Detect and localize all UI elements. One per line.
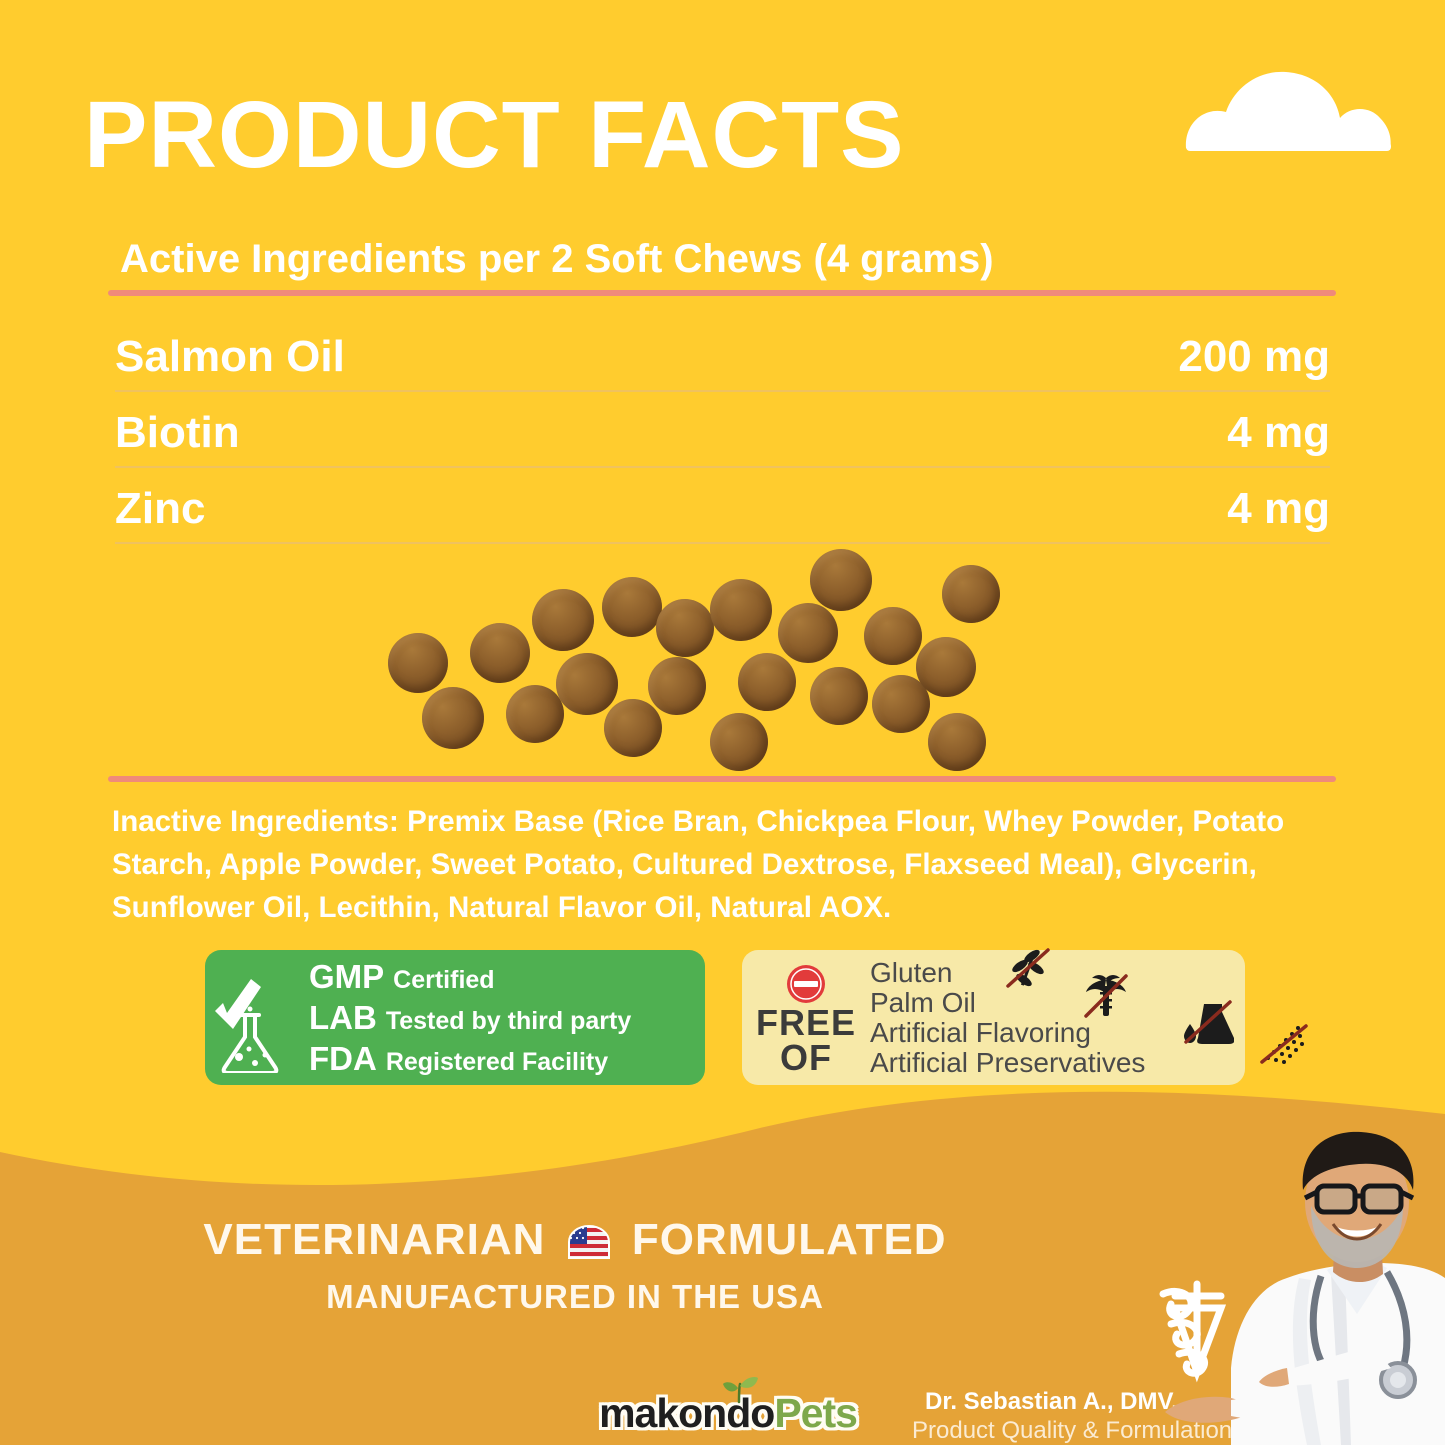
palm-tree-crossed-icon bbox=[1082, 972, 1130, 1020]
certification-list: GMP Certified LAB Tested by third party … bbox=[309, 958, 631, 1078]
table-row: Biotin 4 mg bbox=[115, 398, 1330, 468]
free-of-list: Gluten Palm Oil Artificial Flavoring Art… bbox=[870, 950, 1245, 1085]
chew-piece bbox=[776, 601, 840, 665]
divider-bottom bbox=[108, 776, 1336, 782]
ingredient-name: Biotin bbox=[115, 408, 240, 458]
certification-badge: GMP Certified LAB Tested by third party … bbox=[205, 950, 705, 1085]
wheat-crossed-icon bbox=[1002, 948, 1054, 990]
chew-piece bbox=[923, 708, 992, 777]
leaf-sprout-icon bbox=[718, 1374, 760, 1404]
row-separator bbox=[115, 466, 1330, 468]
ingredient-amount: 200 mg bbox=[1178, 332, 1330, 382]
chew-piece bbox=[705, 708, 774, 777]
logo-pets: Pets bbox=[774, 1390, 857, 1436]
chew-piece bbox=[418, 683, 488, 753]
brand-logo[interactable]: makondoPets bbox=[568, 1382, 888, 1438]
free-word-line2: OF bbox=[780, 1041, 832, 1076]
no-entry-icon bbox=[786, 964, 826, 1004]
active-ingredients-heading: Active Ingredients per 2 Soft Chews (4 g… bbox=[120, 237, 994, 282]
chew-piece bbox=[803, 660, 875, 732]
ingredient-amount: 4 mg bbox=[1227, 484, 1330, 534]
free-word-line1: FREE bbox=[756, 1006, 856, 1041]
cert-key: GMP bbox=[309, 958, 384, 996]
product-facts-label: PRODUCT FACTS Active Ingredients per 2 S… bbox=[0, 0, 1445, 1445]
usa-flag-icon bbox=[567, 1224, 611, 1260]
cert-value: Tested by third party bbox=[386, 1007, 631, 1036]
inactive-ingredients-text: Inactive Ingredients: Premix Base (Rice … bbox=[112, 800, 1342, 929]
list-item: LAB Tested by third party bbox=[309, 999, 631, 1037]
table-row: Zinc 4 mg bbox=[115, 474, 1330, 544]
ingredient-name: Zinc bbox=[115, 484, 205, 534]
chew-piece bbox=[529, 586, 597, 654]
divider-top bbox=[108, 290, 1336, 296]
cert-value: Certified bbox=[393, 966, 494, 995]
veterinarian-formulated-line: VETERINARIAN FORMULATED bbox=[0, 1215, 1150, 1265]
soft-chews-image bbox=[380, 545, 1060, 770]
cert-value: Registered Facility bbox=[386, 1048, 608, 1077]
row-separator bbox=[115, 542, 1330, 544]
veterinarian-photo bbox=[1135, 1128, 1445, 1445]
vet-text-start: VETERINARIAN bbox=[203, 1215, 545, 1264]
ingredient-amount: 4 mg bbox=[1227, 408, 1330, 458]
list-item: Gluten bbox=[870, 958, 1245, 988]
chew-piece bbox=[708, 577, 774, 643]
cloud-icon bbox=[1178, 62, 1398, 154]
list-item: Artificial Preservatives bbox=[870, 1048, 1245, 1078]
table-row: Salmon Oil 200 mg bbox=[115, 322, 1330, 392]
chew-piece bbox=[461, 614, 539, 692]
list-item: FDA Registered Facility bbox=[309, 1040, 631, 1078]
free-of-badge: FREE OF Gluten Palm Oil Artificial Flavo… bbox=[742, 950, 1245, 1085]
vet-text-end: FORMULATED bbox=[632, 1215, 947, 1264]
manufactured-usa-line: MANUFACTURED IN THE USA bbox=[0, 1278, 1150, 1316]
powder-crossed-icon bbox=[1258, 1024, 1310, 1066]
flask-check-icon bbox=[211, 963, 303, 1073]
vet-caduceus-icon bbox=[1163, 1284, 1221, 1373]
row-separator bbox=[115, 390, 1330, 392]
cert-key: FDA bbox=[309, 1040, 377, 1078]
chew-piece bbox=[941, 564, 1001, 624]
flask-drop-crossed-icon bbox=[1182, 1000, 1234, 1046]
page-title: PRODUCT FACTS bbox=[84, 88, 905, 183]
cert-key: LAB bbox=[309, 999, 377, 1037]
list-item: GMP Certified bbox=[309, 958, 631, 996]
header: PRODUCT FACTS bbox=[0, 0, 1445, 215]
ingredient-name: Salmon Oil bbox=[115, 332, 345, 382]
free-of-label: FREE OF bbox=[742, 960, 870, 1075]
